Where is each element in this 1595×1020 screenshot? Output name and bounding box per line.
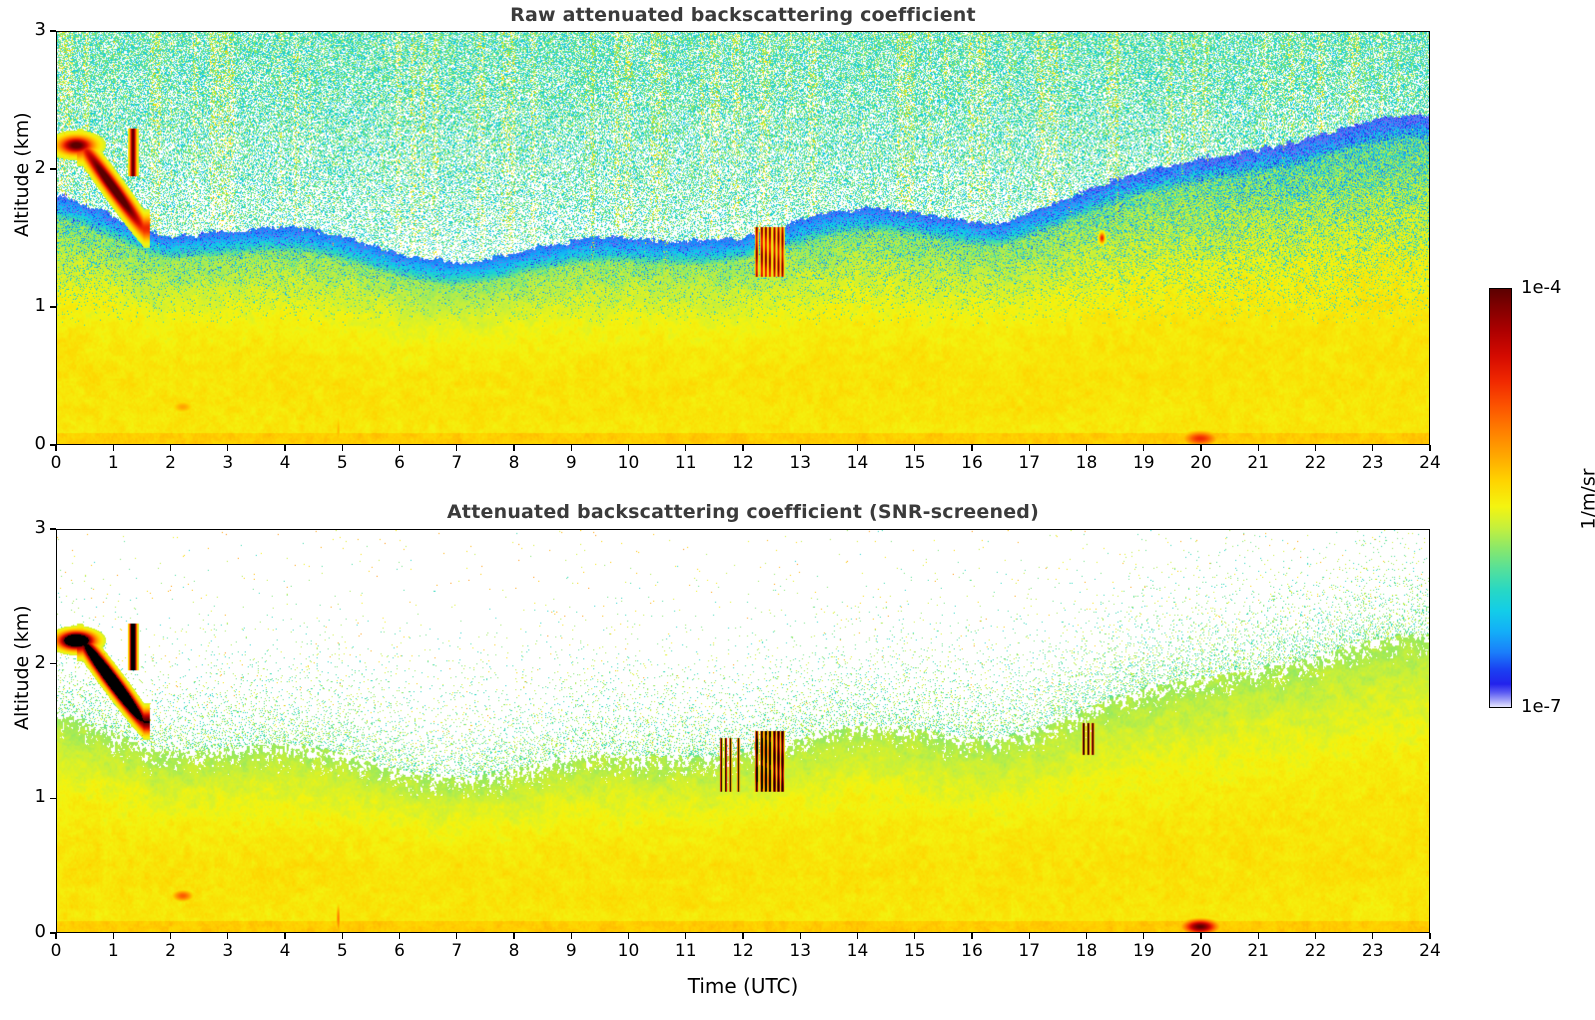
y-tick-label: 3	[12, 517, 46, 538]
x-tickmark	[1143, 445, 1144, 451]
x-tick-label: 10	[609, 453, 649, 473]
x-tickmark	[1429, 445, 1430, 451]
y-tickmark	[50, 798, 56, 799]
x-tick-label: 11	[666, 453, 706, 473]
x-tickmark	[1143, 933, 1144, 939]
x-tickmark	[513, 933, 514, 939]
x-tickmark	[1315, 933, 1316, 939]
x-tickmark	[170, 445, 171, 451]
x-tickmark	[800, 933, 801, 939]
y-tick-label: 3	[12, 19, 46, 40]
x-tick-label: 14	[838, 453, 878, 473]
x-tick-label: 1	[93, 941, 133, 961]
y-tickmark	[50, 168, 56, 169]
x-tick-label: 18	[1067, 453, 1107, 473]
x-tickmark	[1086, 933, 1087, 939]
x-tickmark	[513, 445, 514, 451]
x-tick-label: 8	[494, 941, 534, 961]
x-tickmark	[399, 445, 400, 451]
x-tick-label: 19	[1124, 453, 1164, 473]
panel-title-raw: Raw attenuated backscattering coefficien…	[56, 4, 1430, 26]
x-tick-label: 23	[1353, 941, 1393, 961]
x-tick-label: 22	[1296, 941, 1336, 961]
heatmap-raw	[57, 32, 1429, 444]
x-tickmark	[742, 933, 743, 939]
x-tickmark	[571, 933, 572, 939]
x-tick-label: 6	[380, 941, 420, 961]
x-tick-label: 23	[1353, 453, 1393, 473]
x-tickmark	[55, 445, 56, 451]
x-tickmark	[914, 933, 915, 939]
x-tickmark	[857, 933, 858, 939]
x-tick-label: 17	[1009, 453, 1049, 473]
plot-area-raw[interactable]	[56, 31, 1430, 445]
x-tickmark	[1372, 933, 1373, 939]
x-tickmark	[971, 933, 972, 939]
x-tickmark	[284, 445, 285, 451]
x-tickmark	[857, 445, 858, 451]
x-tickmark	[342, 445, 343, 451]
plot-area-screened[interactable]	[56, 529, 1430, 933]
y-tick-label: 0	[12, 433, 46, 454]
x-tick-label: 2	[151, 941, 191, 961]
x-tick-label: 10	[609, 941, 649, 961]
x-tick-label: 13	[780, 453, 820, 473]
x-tick-label: 0	[36, 453, 76, 473]
x-tick-label: 15	[895, 453, 935, 473]
x-tick-label: 17	[1009, 941, 1049, 961]
x-tickmark	[1258, 445, 1259, 451]
x-tick-label: 15	[895, 941, 935, 961]
x-tickmark	[456, 445, 457, 451]
x-tickmark	[914, 445, 915, 451]
x-tickmark	[1029, 445, 1030, 451]
heatmap-screened	[57, 530, 1429, 932]
x-tickmark	[571, 445, 572, 451]
y-tickmark	[50, 30, 56, 31]
x-tick-label: 21	[1238, 941, 1278, 961]
x-tickmark	[800, 445, 801, 451]
y-tick-label: 1	[12, 786, 46, 807]
x-tickmark	[1315, 445, 1316, 451]
x-tick-label: 14	[838, 941, 878, 961]
y-tick-label: 2	[12, 157, 46, 178]
x-tick-label: 13	[780, 941, 820, 961]
x-tick-label: 5	[322, 453, 362, 473]
x-tickmark	[227, 933, 228, 939]
x-tick-label: 7	[437, 453, 477, 473]
x-tick-label: 21	[1238, 453, 1278, 473]
y-tick-label: 0	[12, 921, 46, 942]
x-tickmark	[628, 445, 629, 451]
x-tick-label: 20	[1181, 453, 1221, 473]
x-tick-label: 4	[265, 453, 305, 473]
x-tickmark	[1086, 445, 1087, 451]
x-tick-label: 3	[208, 453, 248, 473]
x-tick-label: 24	[1410, 453, 1450, 473]
colorbar-tick-min: 1e-7	[1521, 696, 1561, 717]
x-tickmark	[1429, 933, 1430, 939]
x-tickmark	[971, 445, 972, 451]
x-tickmark	[1029, 933, 1030, 939]
colorbar-tick-max: 1e-4	[1521, 277, 1561, 298]
x-tickmark	[170, 933, 171, 939]
x-tickmark	[1200, 445, 1201, 451]
x-tick-label: 16	[952, 941, 992, 961]
x-tickmark	[399, 933, 400, 939]
x-tickmark	[1258, 933, 1259, 939]
x-tickmark	[284, 933, 285, 939]
y-tick-label: 2	[12, 652, 46, 673]
x-tick-label: 18	[1067, 941, 1107, 961]
x-tick-label: 24	[1410, 941, 1450, 961]
x-tickmark	[456, 933, 457, 939]
x-tickmark	[1372, 445, 1373, 451]
x-tick-label: 12	[723, 453, 763, 473]
x-axis-label: Time (UTC)	[56, 974, 1430, 998]
x-tickmark	[227, 445, 228, 451]
x-tickmark	[55, 933, 56, 939]
y-tick-label: 1	[12, 295, 46, 316]
x-tickmark	[685, 445, 686, 451]
y-tickmark	[50, 528, 56, 529]
x-tickmark	[113, 445, 114, 451]
y-tickmark	[50, 306, 56, 307]
x-tickmark	[113, 933, 114, 939]
x-tick-label: 12	[723, 941, 763, 961]
x-tick-label: 11	[666, 941, 706, 961]
x-tick-label: 5	[322, 941, 362, 961]
x-tick-label: 19	[1124, 941, 1164, 961]
x-tick-label: 8	[494, 453, 534, 473]
x-tick-label: 22	[1296, 453, 1336, 473]
x-tick-label: 4	[265, 941, 305, 961]
x-tick-label: 6	[380, 453, 420, 473]
y-tickmark	[50, 663, 56, 664]
y-tickmark	[50, 444, 56, 445]
y-tickmark	[50, 932, 56, 933]
x-tickmark	[742, 445, 743, 451]
x-tick-label: 9	[551, 941, 591, 961]
x-tick-label: 7	[437, 941, 477, 961]
x-tickmark	[685, 933, 686, 939]
colorbar-label: 1/m/sr	[1578, 468, 1595, 529]
x-tick-label: 16	[952, 453, 992, 473]
colorbar[interactable]	[1489, 288, 1512, 708]
x-tick-label: 0	[36, 941, 76, 961]
x-tickmark	[628, 933, 629, 939]
panel-title-screened: Attenuated backscattering coefficient (S…	[56, 501, 1430, 523]
x-tick-label: 20	[1181, 941, 1221, 961]
x-tick-label: 2	[151, 453, 191, 473]
x-tickmark	[342, 933, 343, 939]
x-tick-label: 9	[551, 453, 591, 473]
x-tick-label: 1	[93, 453, 133, 473]
x-tickmark	[1200, 933, 1201, 939]
x-tick-label: 3	[208, 941, 248, 961]
